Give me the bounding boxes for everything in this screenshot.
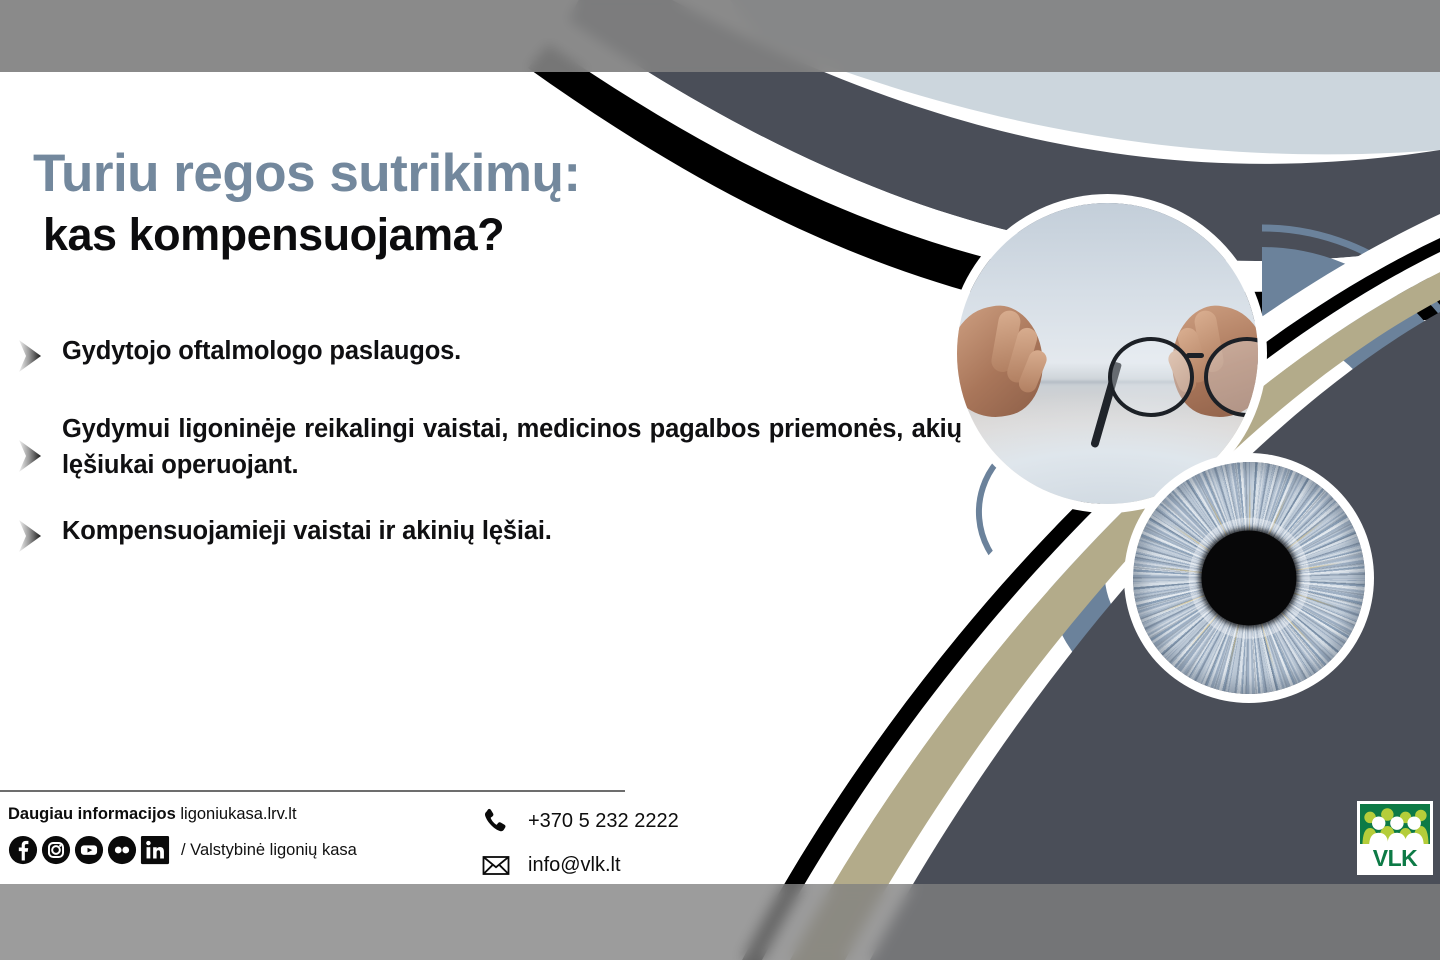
vlk-logo-graphic: VLK [1360,804,1430,872]
vlk-logo: VLK [1357,801,1433,875]
footer-contact: +370 5 232 2222 info@vlk.lt [480,806,679,894]
linkedin-icon[interactable] [140,835,170,865]
eye-photo [1133,462,1365,694]
pupil [1201,530,1296,625]
glasses-bridge [1186,353,1204,358]
vlk-people-figures [1360,804,1430,846]
page-title-line2: kas kompensuojama? [43,211,933,260]
envelope-icon [480,850,512,880]
glasses-photo [957,203,1258,504]
facebook-icon[interactable] [8,835,38,865]
list-item-label: Gydytojo oftalmologo paslaugos. [52,333,970,369]
list-item-label: Kompensuojamieji vaistai ir akinių lęšia… [52,513,970,549]
chevron-right-icon [10,435,52,477]
youtube-icon[interactable] [74,835,104,865]
page-title-line1: Turiu regos sutrikimų: [33,146,933,202]
glasses-lens-left [1108,337,1194,417]
phone-number[interactable]: +370 5 232 2222 [528,810,679,833]
poster-canvas: Turiu regos sutrikimų: kas kompensuojama… [0,0,1440,960]
chevron-right-icon [10,515,52,557]
website-url[interactable]: ligoniukasa.lrv.lt [180,805,296,823]
bottom-letterbox-bar [0,884,1440,960]
chevron-right-icon [10,335,52,377]
list-item: Gydytojo oftalmologo paslaugos. [10,333,970,377]
headline-block: Turiu regos sutrikimų: kas kompensuojama… [33,146,933,260]
more-info-label: Daugiau informacijos [8,805,176,823]
email-address[interactable]: info@vlk.lt [528,854,621,877]
list-item-label: Gydymui ligoninėje reikalingi vaistai, m… [52,411,962,483]
social-handle-label: / Valstybinė ligonių kasa [181,841,357,860]
list-item: Kompensuojamieji vaistai ir akinių lęšia… [10,513,970,557]
vlk-logo-text: VLK [1360,844,1430,872]
list-item: Gydymui ligoninėje reikalingi vaistai, m… [10,411,970,483]
instagram-icon[interactable] [41,835,71,865]
phone-row: +370 5 232 2222 [480,806,679,836]
bullet-list: Gydytojo oftalmologo paslaugos. Gydymui … [10,333,970,591]
top-letterbox-bar [0,0,1440,72]
flickr-icon[interactable] [107,835,137,865]
email-row: info@vlk.lt [480,850,679,880]
phone-icon [480,806,512,836]
footer-divider [0,790,625,792]
